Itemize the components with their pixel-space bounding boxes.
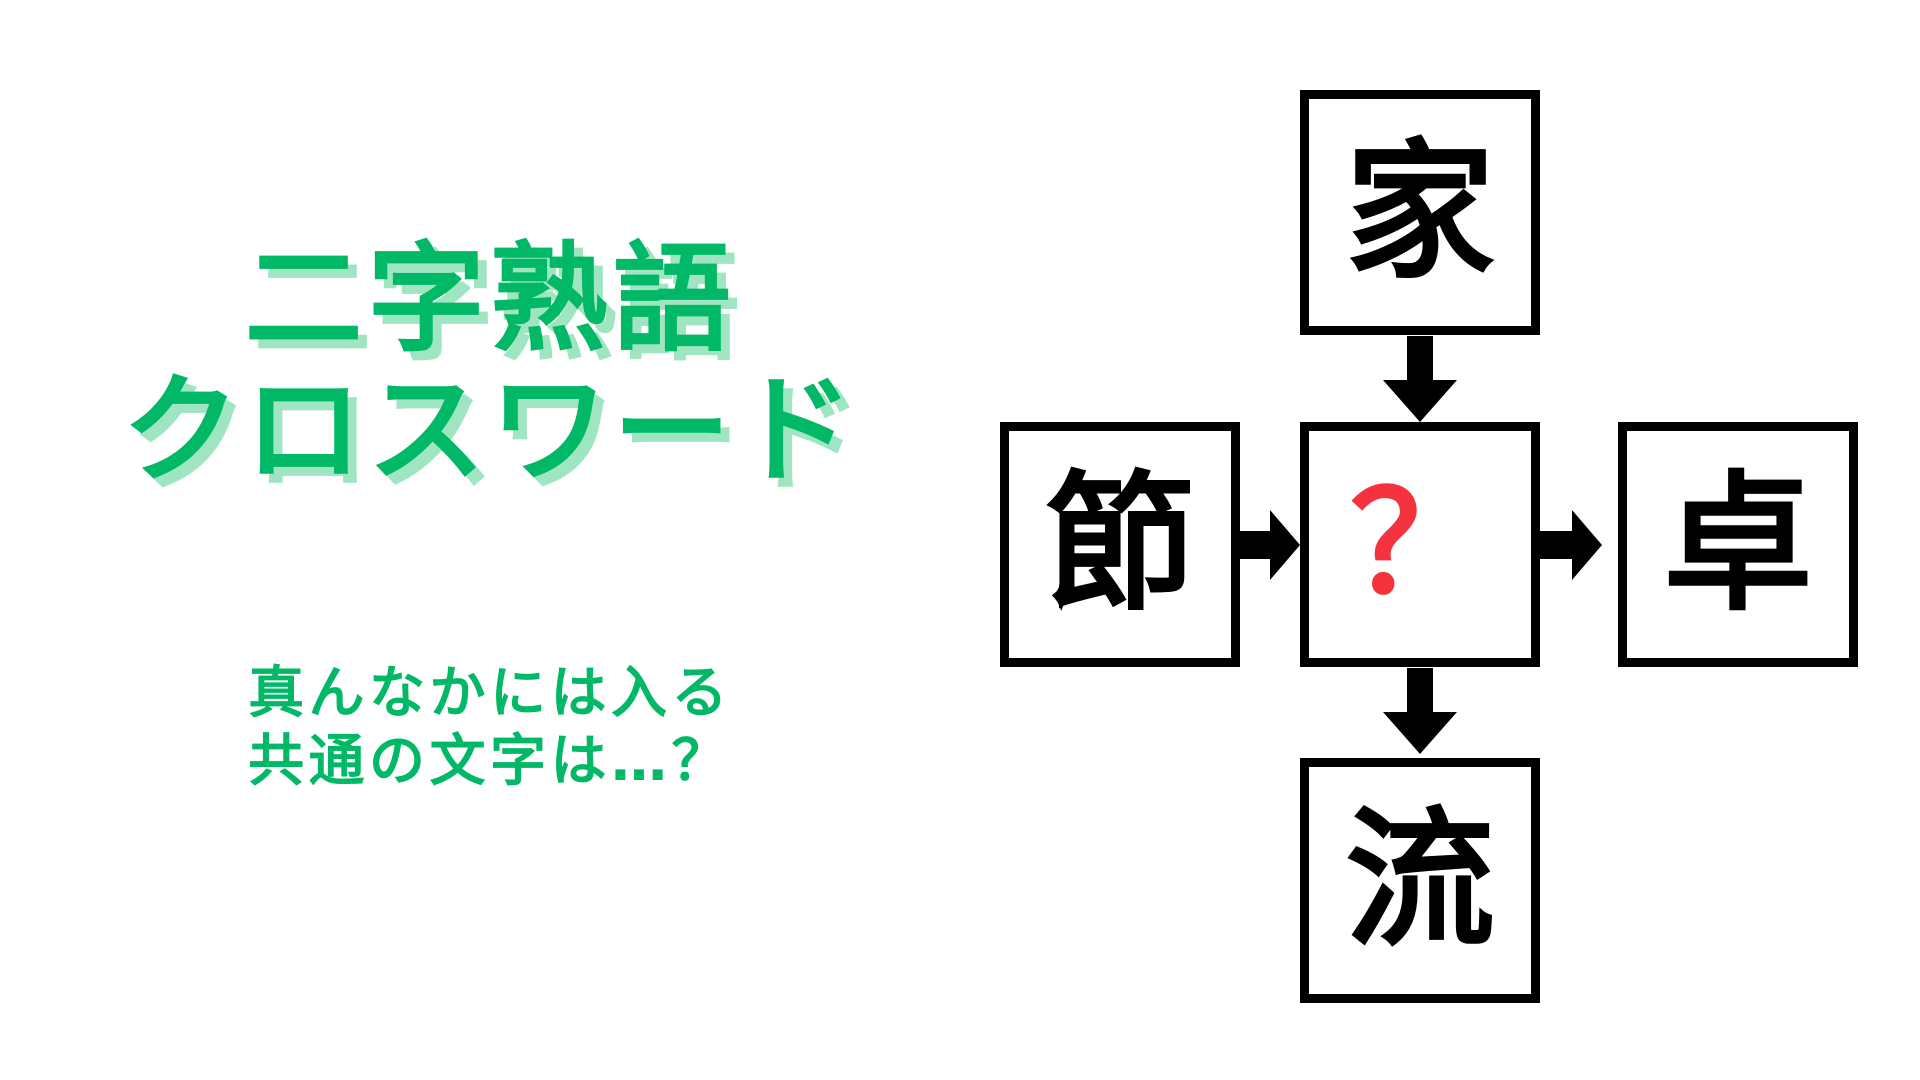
subtitle-block: 真んなかには入る 共通の文字は…？: [0, 660, 980, 797]
puzzle-cell-right: 卓: [1618, 422, 1858, 667]
title-line-2: クロスワード: [0, 367, 980, 494]
puzzle-cell-right-kanji: 卓: [1663, 470, 1813, 620]
puzzle-cell-left-kanji: 節: [1045, 470, 1195, 620]
puzzle-cell-center-unknown: ？: [1300, 422, 1540, 667]
puzzle-cell-top-kanji: 家: [1345, 138, 1495, 288]
puzzle-cell-left: 節: [1000, 422, 1240, 667]
arrow-center-to-right-icon: [1538, 510, 1602, 580]
title-block: 二字熟語 クロスワード: [0, 236, 980, 495]
puzzle-cell-center-question-mark: ？: [1350, 475, 1490, 615]
subtitle-line-1: 真んなかには入る: [0, 660, 980, 728]
slide-canvas: 二字熟語 クロスワード 真んなかには入る 共通の文字は…？ 家 節 ？: [0, 0, 1920, 1080]
puzzle-cell-top: 家: [1300, 90, 1540, 335]
crossword-diagram: 家 節 ？ 卓: [980, 0, 1920, 1080]
title-line-1: 二字熟語: [0, 236, 980, 363]
arrow-left-to-center-icon: [1236, 510, 1300, 580]
subtitle-line-2: 共通の文字は…？: [0, 728, 980, 796]
puzzle-cell-bottom-kanji: 流: [1345, 806, 1495, 956]
arrow-center-to-bottom-icon: [1383, 668, 1457, 754]
arrow-top-to-center-icon: [1383, 336, 1457, 422]
puzzle-cell-bottom: 流: [1300, 758, 1540, 1003]
